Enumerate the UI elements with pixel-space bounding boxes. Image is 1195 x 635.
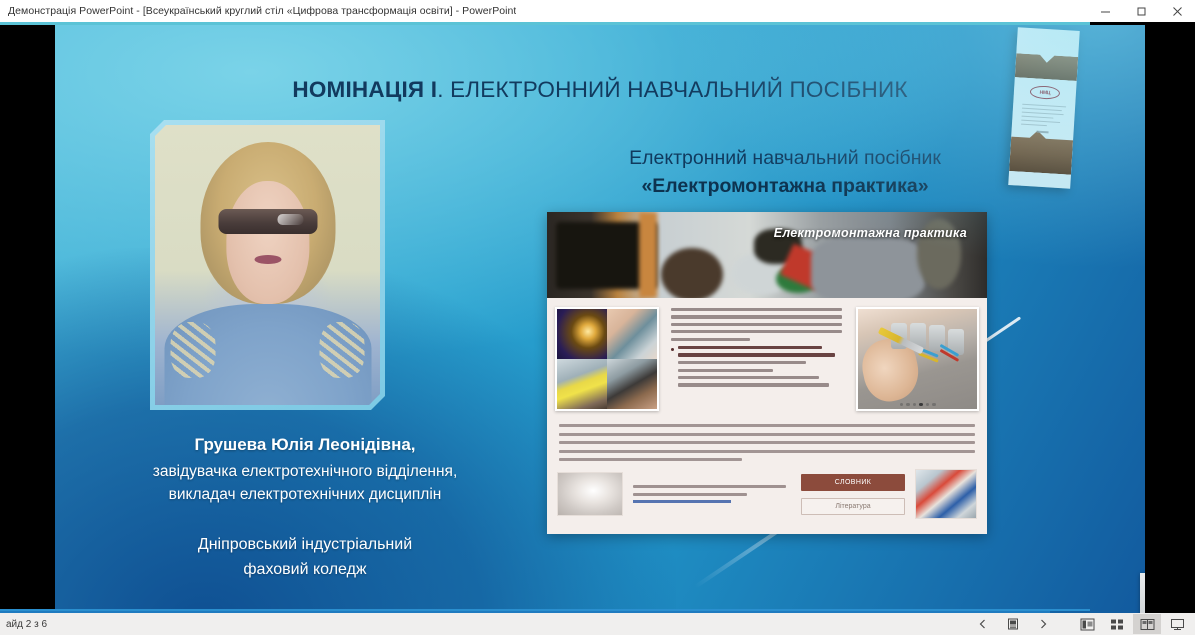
- normal-view-icon: [1080, 618, 1095, 631]
- chevron-right-icon: [1037, 618, 1049, 630]
- nmc-watermark-badge: НМЦ: [1140, 573, 1145, 613]
- book-text-lines: [1021, 104, 1066, 131]
- restore-icon: [1136, 6, 1147, 17]
- portrait-sunglasses: [218, 209, 317, 234]
- restore-button[interactable]: [1123, 0, 1159, 22]
- hero-blob: [639, 212, 657, 298]
- notes-button[interactable]: [999, 614, 1027, 634]
- normal-view-button[interactable]: [1073, 614, 1101, 634]
- presenter-role-line-1: завідувачка електротехнічного відділення…: [75, 460, 535, 483]
- presenter-name: Грушева Юлія Леонідівна,: [75, 430, 535, 460]
- presenter-portrait-photo: [155, 125, 380, 405]
- bullet-dot-icon: [671, 348, 674, 351]
- ebook-hero-title: Електромонтажна практика: [774, 226, 967, 240]
- text-line: [633, 485, 786, 488]
- text-line: [678, 383, 829, 386]
- book-line: [1021, 120, 1060, 124]
- bullet-text: [678, 346, 842, 391]
- statusbar-controls: [969, 613, 1191, 635]
- text-line: [559, 433, 975, 436]
- slide-show-button[interactable]: [1163, 614, 1191, 634]
- hero-blob: [811, 238, 925, 298]
- ebook-bottom-row: СЛОВНИК Література: [555, 469, 979, 519]
- powerpoint-statusbar: айд 2 з 6: [0, 613, 1195, 635]
- portrait-face: [226, 181, 309, 304]
- book-line: [1022, 108, 1062, 112]
- carousel-pagination-dots[interactable]: [858, 403, 977, 407]
- subtitle-line-1: Електронний навчальний посібник: [545, 145, 1025, 171]
- presenter-org-line-2: фаховий коледж: [75, 557, 535, 582]
- slide-title-rest: . ЕЛЕКТРОННИЙ НАВЧАЛЬНИЙ ПОСІБНИК: [437, 77, 907, 102]
- ebook-photo-carousel[interactable]: [856, 307, 979, 411]
- ebook-thumbnail-right: [915, 469, 977, 519]
- text-line: [633, 493, 747, 496]
- hero-blob: [661, 248, 723, 298]
- text-line: [559, 450, 975, 453]
- ebook-content-area: СЛОВНИК Література: [547, 298, 987, 534]
- ebook-description-text: [667, 304, 848, 416]
- carousel-dot[interactable]: [926, 403, 930, 407]
- award-book-image: НМЦ: [1008, 27, 1080, 188]
- ebook-button-column: СЛОВНИК Література: [801, 474, 905, 515]
- carousel-dot[interactable]: [932, 403, 936, 407]
- slide-subtitle: Електронний навчальний посібник «Електро…: [545, 145, 1025, 201]
- chevron-left-icon: [977, 618, 989, 630]
- text-line: [678, 353, 835, 357]
- close-icon: [1172, 6, 1183, 17]
- book-logo-text: НМЦ: [1039, 89, 1050, 96]
- book-line: [1022, 112, 1064, 116]
- ebook-top-row: [555, 304, 979, 416]
- presenter-org-line-1: Дніпровський індустріальний: [75, 532, 535, 557]
- ebook-bullet-item: [671, 346, 842, 391]
- literature-button[interactable]: Література: [801, 498, 905, 515]
- reading-view-button[interactable]: [1133, 614, 1161, 634]
- ebook-survey-link[interactable]: [633, 500, 731, 503]
- ebook-hero-banner: Електромонтажна практика: [547, 212, 987, 298]
- text-line: [671, 330, 842, 333]
- presenter-caption: Грушева Юлія Леонідівна, завідувачка еле…: [75, 430, 535, 582]
- slide-counter: айд 2 з 6: [0, 619, 47, 630]
- collage-cell: [557, 309, 607, 359]
- book-line: [1021, 124, 1047, 127]
- text-line: [671, 308, 842, 311]
- ebook-thumbnail-left: [557, 472, 623, 516]
- carousel-dot[interactable]: [913, 403, 917, 407]
- slide-show-icon: [1170, 618, 1185, 631]
- minimize-button[interactable]: [1087, 0, 1123, 22]
- window-title: Демонстрація PowerPoint - [Всеукраїнськи…: [0, 5, 516, 17]
- ebook-long-paragraph: [555, 424, 979, 461]
- carousel-dot-active[interactable]: [919, 403, 923, 407]
- app-body: НОМІНАЦІЯ І. ЕЛЕКТРОННИЙ НАВЧАЛЬНИЙ ПОСІ…: [0, 22, 1195, 613]
- text-line: [671, 338, 750, 341]
- collage-cell: [557, 359, 607, 409]
- next-slide-button[interactable]: [1029, 614, 1057, 634]
- previous-slide-button[interactable]: [969, 614, 997, 634]
- presenter-portrait-frame: [150, 120, 385, 410]
- slide-sorter-button[interactable]: [1103, 614, 1131, 634]
- text-line: [559, 458, 742, 461]
- ebook-link-text: [633, 485, 791, 503]
- collage-cell: [607, 309, 657, 359]
- text-line: [678, 369, 773, 372]
- subtitle-line-2: «Електромонтажна практика»: [545, 171, 1025, 201]
- embedded-ebook-screenshot: Електромонтажна практика: [547, 212, 987, 534]
- text-line: [678, 376, 819, 379]
- portrait-body: [164, 304, 371, 405]
- reading-view-icon: [1140, 618, 1155, 631]
- window-controls: [1087, 0, 1195, 22]
- notes-icon: [1006, 617, 1020, 631]
- dictionary-button[interactable]: СЛОВНИК: [801, 474, 905, 491]
- statusbar-accent-line: [0, 611, 1050, 613]
- text-line: [559, 424, 975, 427]
- slide-title: НОМІНАЦІЯ І. ЕЛЕКТРОННИЙ НАВЧАЛЬНИЙ ПОСІ…: [270, 77, 930, 103]
- minimize-icon: [1100, 6, 1111, 17]
- carousel-dot[interactable]: [900, 403, 904, 407]
- slide-title-nomination: НОМІНАЦІЯ І: [292, 77, 437, 102]
- text-line: [678, 361, 806, 364]
- close-button[interactable]: [1159, 0, 1195, 22]
- text-line: [559, 441, 975, 444]
- text-line: [671, 323, 842, 326]
- slide-canvas[interactable]: НОМІНАЦІЯ І. ЕЛЕКТРОННИЙ НАВЧАЛЬНИЙ ПОСІ…: [55, 25, 1145, 613]
- text-line: [671, 315, 842, 318]
- portrait-lips: [254, 255, 281, 264]
- window-titlebar: Демонстрація PowerPoint - [Всеукраїнськи…: [0, 0, 1195, 22]
- ebook-photo-collage: [555, 307, 659, 411]
- presenter-role-line-2: викладач електротехнічних дисциплін: [75, 483, 535, 506]
- book-line: [1021, 116, 1053, 119]
- carousel-dot[interactable]: [906, 403, 910, 407]
- text-line: [678, 346, 822, 350]
- slide-sorter-icon: [1110, 618, 1124, 631]
- collage-cell: [607, 359, 657, 409]
